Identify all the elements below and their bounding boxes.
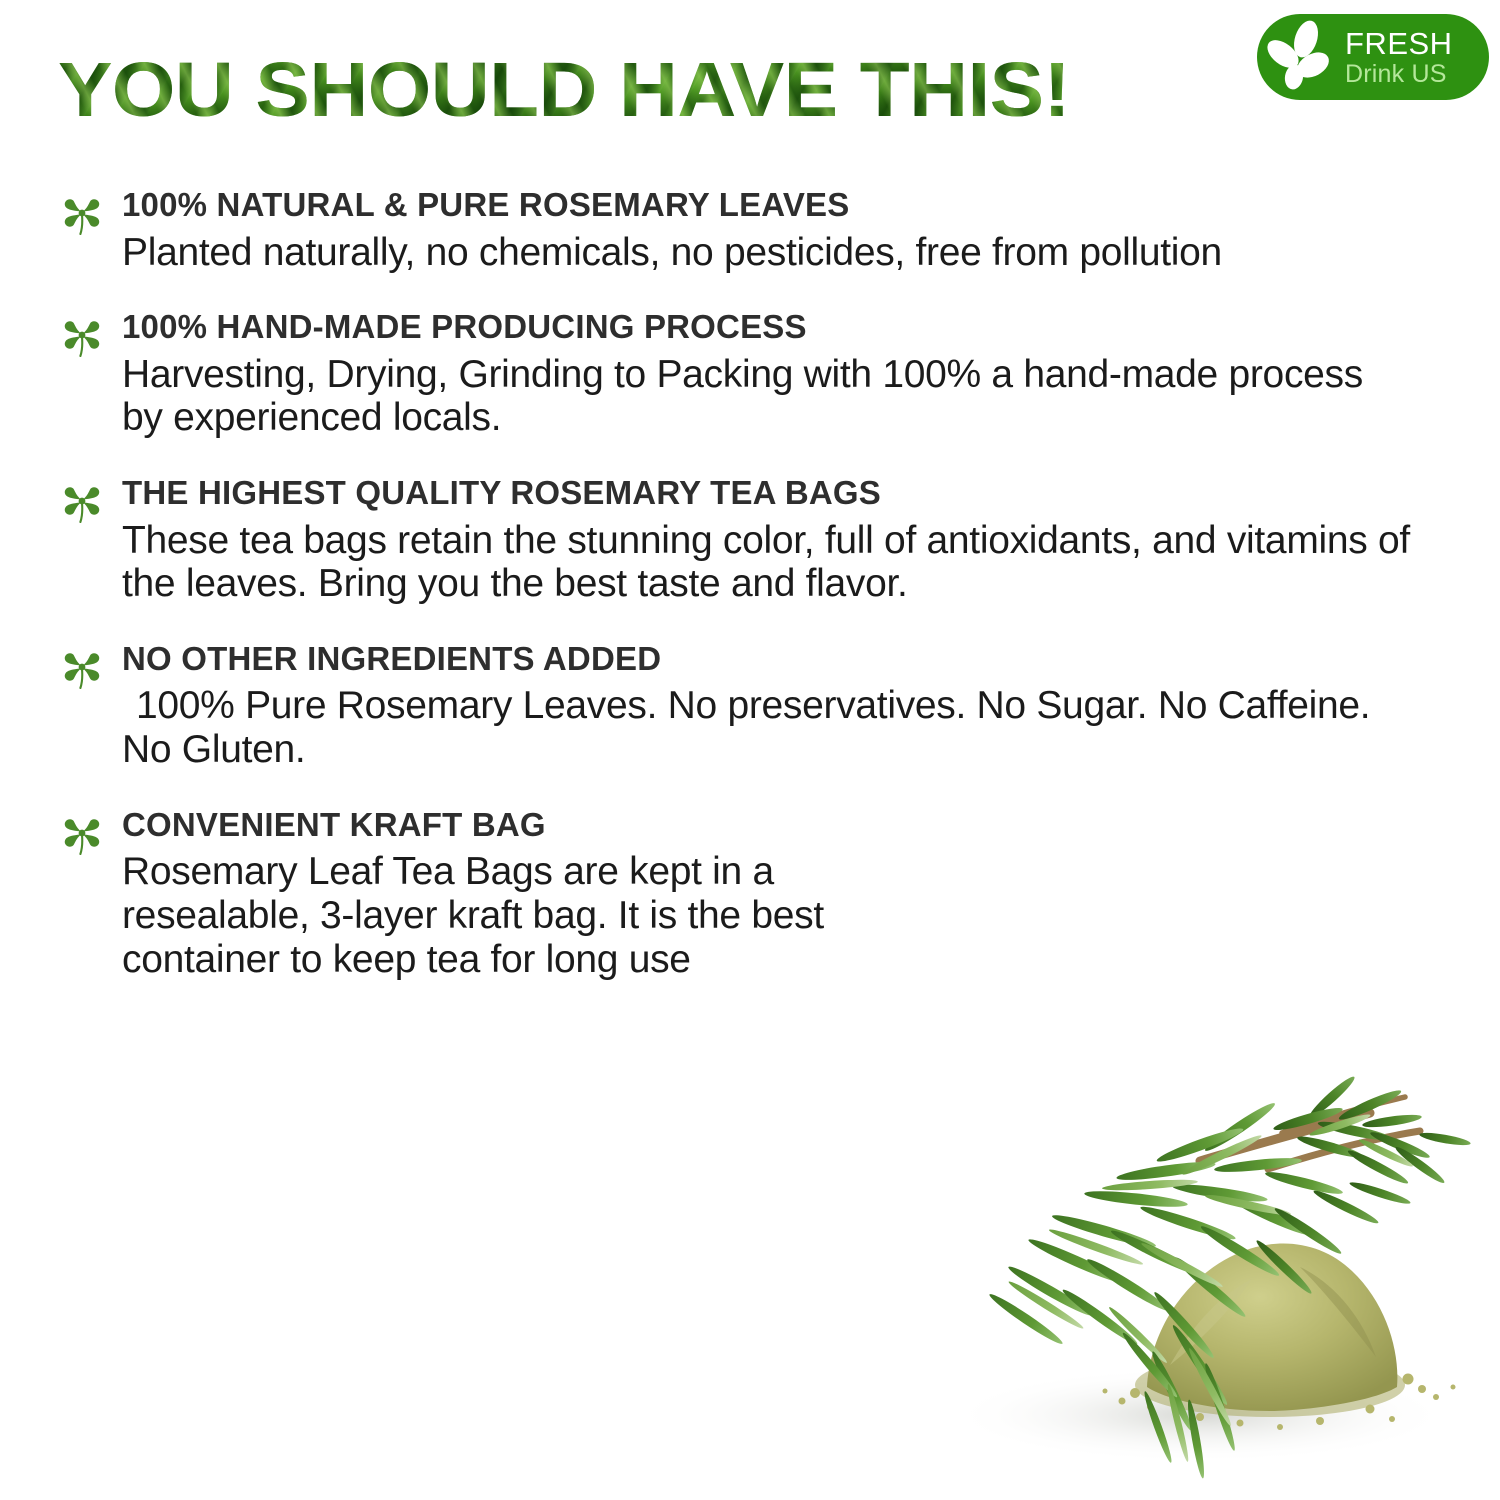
four-leaf-clover-icon	[62, 193, 102, 235]
feature-description: Rosemary Leaf Tea Bags are kept in a res…	[122, 850, 882, 981]
feature-heading: 100% HAND-MADE PRODUCING PROCESS	[122, 308, 1479, 348]
brand-name-secondary: Drink US	[1345, 62, 1453, 87]
feature-description: These tea bags retain the stunning color…	[122, 519, 1412, 606]
feature-description: Harvesting, Drying, Grinding to Packing …	[122, 353, 1412, 440]
list-item: NO OTHER INGREDIENTS ADDED 100% Pure Ros…	[0, 640, 1500, 772]
page-title: YOU SHOULD HAVE THIS!	[58, 52, 1070, 129]
feature-heading: NO OTHER INGREDIENTS ADDED	[122, 640, 1479, 680]
feature-description: 100% Pure Rosemary Leaves. No preservati…	[122, 684, 1412, 771]
four-leaf-clover-icon	[62, 481, 102, 523]
list-item: CONVENIENT KRAFT BAG Rosemary Leaf Tea B…	[0, 806, 1500, 982]
leaf-cluster-icon	[1257, 14, 1343, 100]
feature-description: Planted naturally, no chemicals, no pest…	[122, 231, 1412, 275]
four-leaf-clover-icon	[62, 647, 102, 689]
list-item: 100% NATURAL & PURE ROSEMARY LEAVES Plan…	[0, 186, 1500, 274]
feature-list: 100% NATURAL & PURE ROSEMARY LEAVES Plan…	[0, 186, 1500, 981]
four-leaf-clover-icon	[62, 315, 102, 357]
feature-heading: CONVENIENT KRAFT BAG	[122, 806, 1479, 846]
brand-wordmark: FRESH Drink US	[1343, 28, 1453, 87]
brand-name-primary: FRESH	[1345, 28, 1453, 59]
four-leaf-clover-icon	[62, 813, 102, 855]
rosemary-product-image	[900, 1035, 1500, 1500]
feature-heading: THE HIGHEST QUALITY ROSEMARY TEA BAGS	[122, 474, 1479, 514]
list-item: THE HIGHEST QUALITY ROSEMARY TEA BAGS Th…	[0, 474, 1500, 606]
brand-logo: FRESH Drink US	[1257, 14, 1489, 100]
feature-heading: 100% NATURAL & PURE ROSEMARY LEAVES	[122, 186, 1479, 226]
list-item: 100% HAND-MADE PRODUCING PROCESS Harvest…	[0, 308, 1500, 440]
